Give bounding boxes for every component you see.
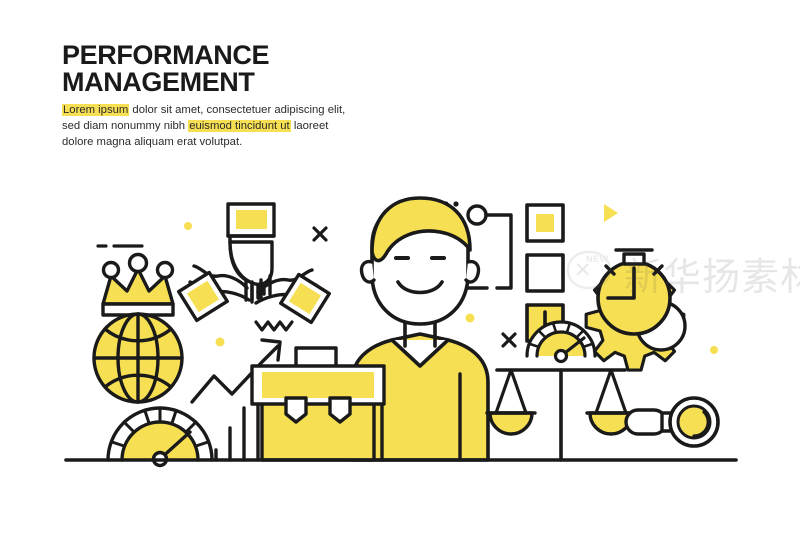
title-line-2: MANAGEMENT	[62, 69, 482, 96]
handshake-icon	[179, 204, 330, 322]
play-triangle-decoration	[604, 204, 618, 222]
gauge-left-icon	[108, 408, 212, 466]
cross-mark-decoration	[503, 334, 515, 346]
highlight-lorem-ipsum: Lorem ipsum	[62, 104, 129, 116]
small-dot-decoration	[216, 338, 225, 347]
small-dot-decoration	[710, 346, 718, 354]
poster-canvas: PERFORMANCE MANAGEMENT Lorem ipsum dolor…	[0, 0, 800, 533]
illustration-group	[0, 170, 800, 480]
body-paragraph: Lorem ipsum dolor sit amet, consectetuer…	[62, 102, 362, 151]
cross-mark-decoration	[314, 228, 326, 240]
stopwatch-gear-icon	[586, 250, 685, 370]
small-dot-decoration	[466, 314, 475, 323]
crown-globe-icon	[94, 255, 182, 403]
page-title: PERFORMANCE MANAGEMENT	[62, 42, 482, 96]
magnifier-icon	[626, 398, 718, 446]
highlight-euismod: euismod tincidunt ut	[188, 120, 290, 132]
small-dot-decoration	[184, 222, 192, 230]
title-line-1: PERFORMANCE	[62, 42, 482, 69]
briefcase-icon	[252, 348, 384, 460]
zigzag-wave-decoration	[256, 322, 292, 330]
